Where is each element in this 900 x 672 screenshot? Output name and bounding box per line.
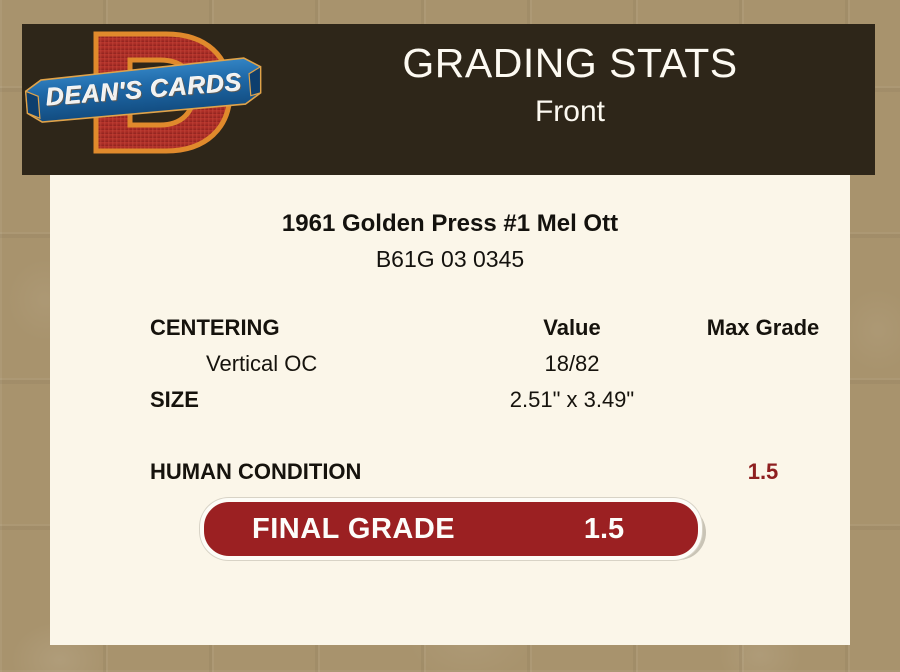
final-grade-pill: FINAL GRADE 1.5 — [200, 498, 702, 560]
header-titles: GRADING STATS Front — [280, 38, 860, 132]
card-title: 1961 Golden Press #1 Mel Ott — [50, 208, 850, 239]
deans-cards-logo: DEAN'S CARDS — [22, 12, 267, 152]
final-grade-label: FINAL GRADE — [252, 513, 455, 546]
card-title-block: 1961 Golden Press #1 Mel Ott B61G 03 034… — [50, 208, 850, 275]
page-subtitle: Front — [280, 92, 860, 132]
row-label-vertical-oc: Vertical OC — [206, 346, 317, 382]
table-header-row: CENTERING Value Max Grade — [150, 310, 840, 346]
row-value-size: 2.51" x 3.49" — [450, 382, 694, 418]
grading-stats-table: CENTERING Value Max Grade Vertical OC 18… — [150, 310, 840, 490]
table-row: HUMAN CONDITION 1.5 — [150, 454, 840, 490]
column-header-max-grade: Max Grade — [686, 310, 840, 346]
row-max-human-condition: 1.5 — [686, 454, 840, 490]
card-code: B61G 03 0345 — [50, 243, 850, 275]
column-header-value: Value — [490, 310, 654, 346]
row-value-vertical-oc: 18/82 — [490, 346, 654, 382]
row-label-human-condition: HUMAN CONDITION — [150, 454, 361, 490]
content-panel: 1961 Golden Press #1 Mel Ott B61G 03 034… — [50, 175, 850, 645]
final-grade-value: 1.5 — [544, 513, 664, 546]
table-row: SIZE 2.51" x 3.49" — [150, 382, 840, 418]
final-grade-banner: FINAL GRADE 1.5 — [200, 498, 706, 560]
table-row: Vertical OC 18/82 — [150, 346, 840, 382]
row-label-size: SIZE — [150, 382, 199, 418]
column-header-centering: CENTERING — [150, 310, 280, 346]
page-title: GRADING STATS — [280, 38, 860, 88]
